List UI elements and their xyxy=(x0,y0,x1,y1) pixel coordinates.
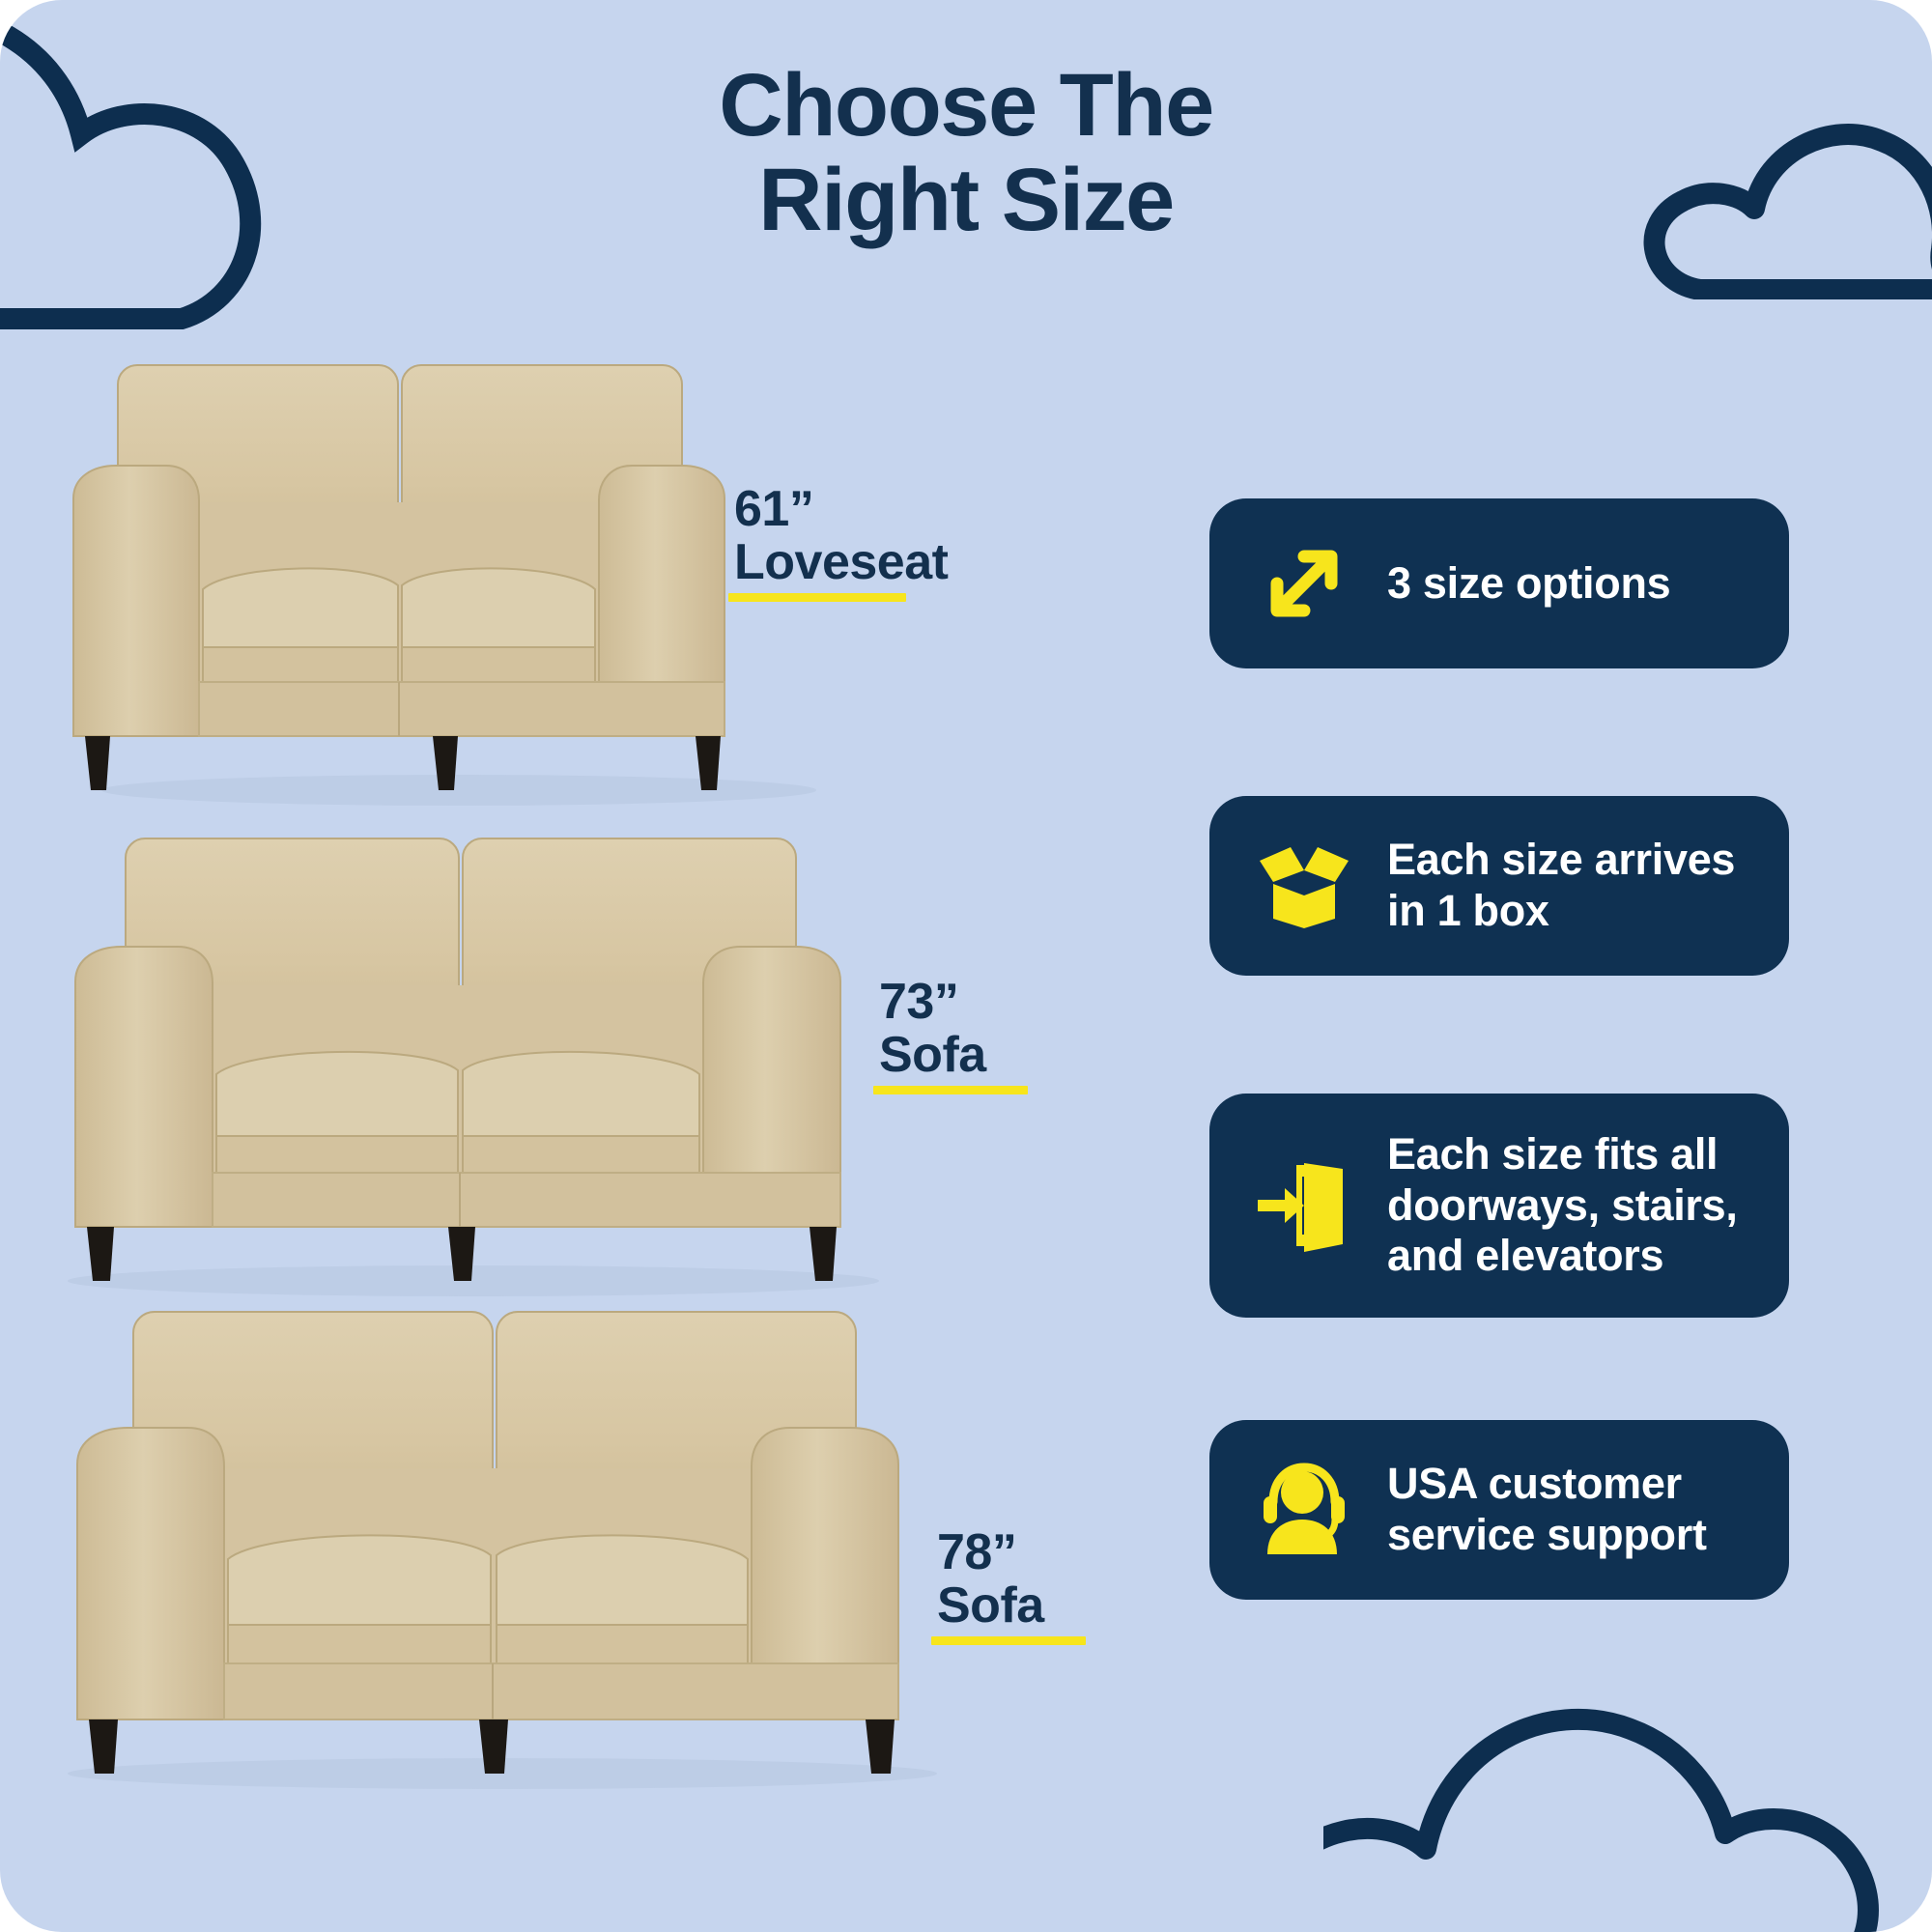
feature-line: USA customer xyxy=(1387,1459,1707,1510)
infographic-panel: Choose The Right Size xyxy=(0,0,1932,1932)
feature-card-text: Each size fits all doorways, stairs, and… xyxy=(1387,1129,1738,1282)
title-line-1: Choose The xyxy=(0,58,1932,153)
feature-line: and elevators xyxy=(1387,1231,1738,1282)
resize-arrows-icon xyxy=(1254,533,1354,634)
size-value: 73” xyxy=(879,976,986,1029)
sofa-image-sofa-78 xyxy=(58,1304,1082,1806)
headset-support-icon xyxy=(1254,1460,1354,1560)
product-row-loveseat: 61” Loveseat xyxy=(58,357,889,821)
feature-line: in 1 box xyxy=(1387,886,1735,937)
feature-line: Each size fits all xyxy=(1387,1129,1738,1180)
feature-line: 3 size options xyxy=(1387,558,1670,610)
size-underline xyxy=(728,593,906,602)
door-entry-icon xyxy=(1254,1155,1354,1256)
open-box-icon xyxy=(1254,836,1354,936)
feature-card-text: USA customer service support xyxy=(1387,1459,1707,1560)
size-label-sofa-78: 78” Sofa xyxy=(937,1526,1044,1633)
size-value: 78” xyxy=(937,1526,1044,1579)
size-label-loveseat: 61” Loveseat xyxy=(734,483,948,589)
product-row-sofa-78: 78” Sofa xyxy=(58,1304,1130,1806)
feature-card-text: 3 size options xyxy=(1387,558,1670,610)
feature-line: Each size arrives xyxy=(1387,835,1735,886)
size-value: 61” xyxy=(734,483,948,536)
title-line-2: Right Size xyxy=(0,153,1932,247)
page-title: Choose The Right Size xyxy=(0,58,1932,248)
feature-line: service support xyxy=(1387,1510,1707,1561)
sofa-image-sofa-73 xyxy=(58,831,1014,1314)
cloud-outline-icon xyxy=(1323,1594,1932,1932)
product-row-sofa-73: 73” Sofa xyxy=(58,831,1063,1314)
size-kind: Sofa xyxy=(937,1579,1044,1633)
feature-card-usa-support[interactable]: USA customer service support xyxy=(1209,1420,1789,1600)
feature-card-size-options[interactable]: 3 size options xyxy=(1209,498,1789,668)
size-underline xyxy=(873,1086,1028,1094)
size-underline xyxy=(931,1636,1086,1645)
size-label-sofa-73: 73” Sofa xyxy=(879,976,986,1082)
feature-card-fits-doorways[interactable]: Each size fits all doorways, stairs, and… xyxy=(1209,1094,1789,1318)
feature-card-text: Each size arrives in 1 box xyxy=(1387,835,1735,936)
size-kind: Sofa xyxy=(879,1029,986,1082)
size-kind: Loveseat xyxy=(734,536,948,589)
feature-card-one-box[interactable]: Each size arrives in 1 box xyxy=(1209,796,1789,976)
infographic-canvas: Choose The Right Size xyxy=(0,0,1932,1932)
feature-line: doorways, stairs, xyxy=(1387,1180,1738,1232)
